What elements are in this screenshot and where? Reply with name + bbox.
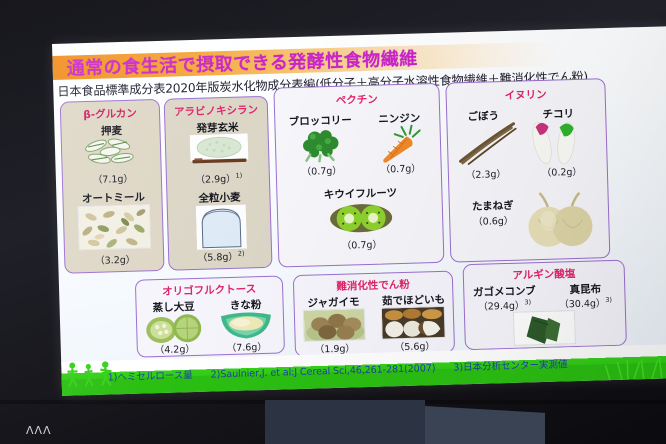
item-weight-whole-wheat: （5.8g）2) (169, 248, 273, 265)
group-box-beta-glucan: β-グルカン 押麦 （7.1g） (60, 99, 165, 274)
group-box-pectin: ペクチン ブロッコリー (273, 83, 444, 268)
chicory-icon (523, 117, 594, 169)
projected-slide-wrapper: 通常の食生活で摂取できる発酵性食物繊維 日本食品標準成分表2020年版炭水化物成… (52, 26, 666, 396)
item-weight-broccoli: （0.7g） (283, 162, 361, 178)
item-label-whole-wheat: 全粒小麦 (167, 189, 271, 207)
group-box-arabinoxylan: アラビノキシラン 発芽玄米 （2.9g）1) (164, 96, 273, 271)
burdock-root-icon (453, 120, 520, 170)
item-weight-oshimugi: （7.1g） (63, 170, 163, 187)
item-weight-chicory: （0.2g） (527, 163, 597, 179)
group-title-arabinoxylan: アラビノキシラン (165, 102, 267, 120)
group-box-inulin: イヌリン ごぼう （2.3g） チコリ (445, 78, 610, 263)
item-weight-makonbu-kelp: （30.4g）3) (546, 295, 624, 311)
item-label-broccoli: ブロッコリー (281, 112, 359, 129)
group-box-alginate: アルギン酸塩 ガゴメコンブ （29.4g）3) 真昆布 （30.4g）3) (463, 260, 627, 351)
podium-foreground (0, 400, 666, 444)
whole-wheat-bread-icon (196, 204, 247, 253)
barley-grains-icon (82, 136, 143, 172)
kiwi-fruit-icon (328, 200, 395, 240)
kelp-photo-icon (513, 310, 576, 346)
item-weight-oatmeal: （3.2g） (65, 251, 165, 268)
item-weight-kiwi: （0.7g） (279, 235, 445, 254)
item-weight-carrot: （0.7g） (363, 160, 439, 176)
group-box-resistant-starch: 難消化性でん粉 ジャガイモ （1.9g） 茹でほどいも (293, 271, 455, 358)
dark-panel-secondary (425, 406, 545, 444)
boiled-yacon-photo-icon (381, 306, 446, 340)
item-weight-steamed-soybeans: （4.2g） (140, 341, 210, 357)
presentation-slide: 通常の食生活で摂取できる発酵性食物繊維 日本食品標準成分表2020年版炭水化物成… (52, 26, 666, 396)
onion-icon (521, 189, 599, 255)
group-title-pectin: ペクチン (275, 90, 439, 110)
projection-room-scene: ΛΛΛ 通常の食生活で摂取できる発酵性食物繊維 日本食品標準成分表2020年版炭… (0, 0, 666, 444)
broccoli-icon (298, 128, 347, 167)
venue-watermark: ΛΛΛ (26, 424, 52, 437)
item-weight-burdock: （2.3g） (453, 166, 519, 182)
potato-photo-icon (303, 308, 366, 342)
group-box-oligofructose: オリゴフルクトース 蒸し大豆 （4.2g） きな粉 (135, 275, 285, 357)
item-weight-onion: （0.6g） (458, 212, 528, 228)
group-title-inulin: イヌリン (446, 85, 604, 105)
group-title-beta-glucan: β-グルカン (61, 105, 159, 123)
item-weight-sprouted-rice: （2.9g）1) (167, 170, 271, 187)
sprouted-brown-rice-icon (190, 133, 249, 173)
item-weight-kinako: （7.6g） (212, 339, 282, 355)
dark-panel (265, 400, 425, 444)
oatmeal-photo-icon (78, 204, 151, 250)
